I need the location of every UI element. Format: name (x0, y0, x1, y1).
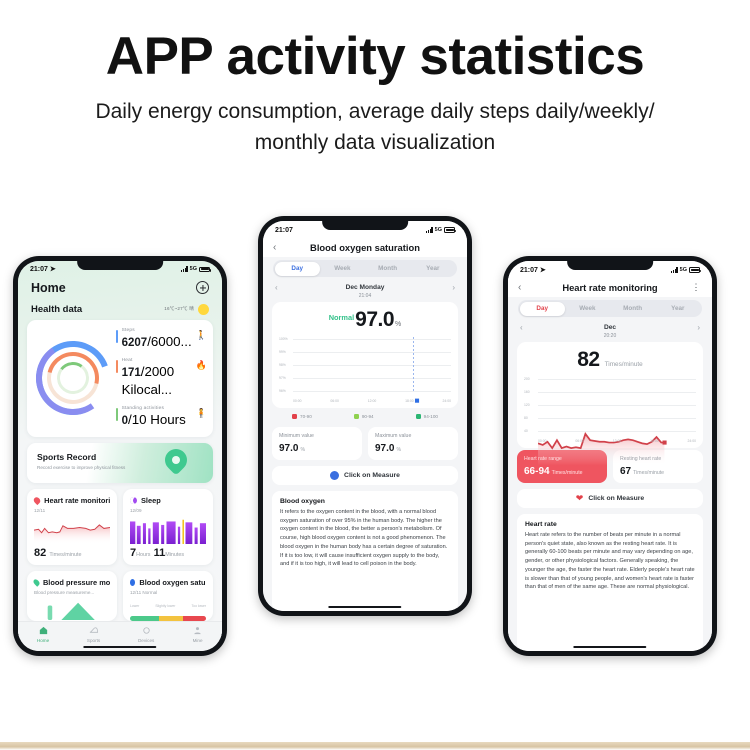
oxygen-icon (330, 471, 339, 480)
metric-steps: Steps 6207/6000... 🚶 (116, 328, 207, 351)
metric-label: Standing activities (122, 406, 192, 411)
metric-label: Steps (122, 328, 192, 333)
home-indicator (573, 646, 646, 649)
next-date-icon[interactable]: › (697, 323, 700, 332)
stat-label: Maximum value (375, 433, 451, 441)
card-heart-rate[interactable]: Heart rate monitoring 12/11 82 Times/min… (27, 489, 117, 565)
tab-label: Devices (138, 638, 154, 643)
network-label: 5G (190, 266, 197, 272)
home-icon (38, 625, 49, 636)
y-tick: 99% (279, 350, 286, 354)
x-tick: 18:00 (405, 399, 414, 403)
network-label: 5G (680, 267, 687, 273)
stat-unit: Times/minute (552, 470, 583, 476)
x-tick: 00:00 (293, 399, 302, 403)
watch-icon (141, 625, 152, 636)
home-indicator (328, 606, 401, 609)
heart-rate-series (538, 377, 696, 465)
measure-button[interactable]: Click on Measure (272, 466, 458, 485)
reading-value: 97.0 (355, 308, 394, 331)
card-sleep[interactable]: Sleep 12/09 (123, 489, 213, 565)
page-subtitle: Daily energy consumption, average daily … (0, 97, 750, 158)
walking-icon: 🚶 (196, 331, 207, 340)
reading: 82Times/minute (524, 348, 696, 372)
heart-rate-plot: 200 160 120 80 40 (524, 377, 696, 443)
sports-record-title: Sports Record (37, 452, 125, 462)
page-title: Blood oxygen saturation (285, 242, 445, 253)
card-date: 12/11 Normal (130, 590, 206, 595)
card-date: 12/09 (130, 508, 206, 513)
y-tick: 200 (524, 377, 530, 381)
network-label: 5G (435, 227, 442, 233)
chart-cursor (662, 377, 663, 433)
y-tick: 80 (524, 416, 528, 420)
health-data-label: Health data (31, 304, 82, 315)
period-tabs[interactable]: Day Week Month Year (273, 260, 457, 277)
date-navigator[interactable]: ‹ Dec › (508, 317, 712, 333)
signal-icon (181, 266, 188, 272)
battery-icon (444, 227, 455, 233)
signal-icon (671, 267, 678, 273)
y-tick: 120 (524, 403, 530, 407)
heart-rate-info: Heart rate Heart rate refers to the numb… (517, 514, 703, 651)
health-metrics-card[interactable]: Steps 6207/6000... 🚶 Heat 171/2000 Kiloc… (27, 320, 213, 437)
tab-mine[interactable]: Mine (192, 625, 203, 643)
y-tick: 97% (279, 376, 286, 380)
card-value: 82 (34, 547, 46, 559)
info-title: Blood oxygen (280, 498, 450, 505)
stat-value: 97.0 (375, 443, 394, 454)
stat-value: 97.0 (279, 443, 298, 454)
bar-tick: Too lower (191, 604, 206, 608)
metric-standing: Standing activities 0/10 Hours 🧍 (116, 406, 207, 429)
bar-tick: Lower (130, 604, 139, 608)
phone-left-home: 21:07 ➤ 5G Home Health data 16℃~27℃ 晴 (13, 256, 227, 656)
signal-icon (426, 227, 433, 233)
y-tick: 98% (279, 363, 286, 367)
card-blood-oxygen[interactable]: Blood oxygen saturation 12/11 Normal Low… (123, 571, 213, 621)
bottom-strip (0, 742, 750, 750)
date-navigator[interactable]: ‹ Dec Monday › (263, 277, 467, 293)
x-tick: 24:00 (443, 399, 452, 403)
x-tick: 12:00 (613, 439, 622, 443)
battery-icon (689, 267, 700, 273)
maximum-value-card: Maximum value 97.0% (368, 427, 458, 460)
x-tick: 18:00 (650, 439, 659, 443)
weather-text: 16℃~27℃ 晴 (164, 306, 194, 312)
home-indicator (83, 646, 156, 649)
x-tick: 12:00 (368, 399, 377, 403)
location-arrow-icon: ➤ (50, 265, 56, 273)
minimum-value-card: Minimum value 97.0% (272, 427, 362, 460)
heart-rate-sparkline (34, 518, 110, 544)
droplet-icon (32, 578, 40, 586)
blood-oxygen-chart-card: Normal97.0% 100% 99% 98% 97% 96% (272, 302, 458, 408)
info-text: Heart rate refers to the number of beats… (525, 531, 695, 592)
page-title: Heart rate monitoring (530, 282, 690, 293)
reading-unit: Times/minute (605, 361, 643, 368)
tab-sports[interactable]: Sports (87, 625, 100, 643)
notch (567, 261, 653, 270)
tab-home[interactable]: Home (37, 625, 49, 643)
tab-day[interactable]: Day (275, 262, 320, 276)
status-time: 21:07 (30, 266, 48, 273)
y-tick: 96% (279, 389, 286, 393)
stat-label: Minimum value (279, 433, 355, 441)
activity-rings (36, 341, 110, 415)
tab-year[interactable]: Year (410, 262, 455, 276)
current-date: Dec Monday (278, 284, 453, 291)
card-blood-pressure[interactable]: Blood pressure monitoring Blood pressure… (27, 571, 117, 621)
notch (77, 261, 163, 270)
info-title: Heart rate (525, 521, 695, 528)
heart-icon (32, 495, 41, 504)
person-icon (192, 625, 203, 636)
blood-pressure-graphic (34, 600, 110, 620)
tab-label: Sports (87, 638, 100, 643)
card-title: Sleep (141, 496, 161, 505)
phone-mid-blood-oxygen: 21:07 5G ‹ Blood oxygen saturation Day W… (258, 216, 472, 616)
card-unit: Times/minute (49, 552, 81, 558)
reading-unit: % (395, 321, 401, 328)
sports-record-subtitle: Record exercise to improve physical fitn… (37, 465, 125, 470)
y-tick: 40 (524, 429, 528, 433)
card-title: Heart rate monitoring (44, 496, 110, 505)
x-tick: 24:00 (688, 439, 697, 443)
page-header: APP activity statistics Daily energy con… (0, 28, 750, 158)
stat-value: 67 (620, 466, 631, 477)
x-tick: 00:00 (538, 439, 547, 443)
metric-value: 6207 (122, 337, 148, 349)
blood-oxygen-info: Blood oxygen It refers to the oxygen con… (272, 491, 458, 611)
tab-label: Mine (193, 638, 203, 643)
map-pin-icon (160, 444, 191, 475)
y-tick: 160 (524, 390, 530, 394)
reading-value: 82 (577, 348, 599, 371)
sun-icon (198, 304, 209, 315)
y-tick: 100% (279, 337, 288, 341)
card-title: Blood oxygen saturation (139, 578, 206, 587)
kebab-menu-icon[interactable]: ⋮ (690, 284, 702, 290)
card-title: Blood pressure monitoring (43, 578, 110, 587)
measure-label: Click on Measure (344, 472, 400, 479)
stat-unit: Times/minute (633, 470, 664, 476)
tab-label: Home (37, 638, 49, 643)
reading-time: 20:20 (508, 333, 712, 342)
battery-icon (199, 267, 210, 273)
tab-year[interactable]: Year (655, 302, 700, 316)
tab-month[interactable]: Month (610, 302, 655, 316)
card-unit: Hours (136, 552, 150, 558)
card-unit-2: Minutes (165, 552, 184, 558)
sports-record-card[interactable]: Sports Record Record exercise to improve… (27, 443, 213, 483)
status-time: 21:07 (275, 227, 293, 234)
data-points (293, 337, 451, 425)
flame-icon: 🔥 (196, 361, 207, 370)
heart-icon: ❤ (576, 494, 584, 503)
metric-value: 171 (122, 367, 141, 379)
reading-tag: Normal (329, 313, 354, 322)
oxygen-icon (130, 579, 135, 586)
back-icon[interactable]: ‹ (518, 282, 530, 293)
status-time: 21:07 (520, 267, 538, 274)
tab-day[interactable]: Day (520, 302, 565, 316)
tab-week[interactable]: Week (320, 262, 365, 276)
period-tabs[interactable]: Day Week Month Year (518, 300, 702, 317)
heart-rate-chart-card: 82Times/minute 200 160 120 80 40 (517, 342, 703, 448)
tab-month[interactable]: Month (365, 262, 410, 276)
tab-week[interactable]: Week (565, 302, 610, 316)
reading-time: 21:04 (263, 293, 467, 302)
measure-label: Click on Measure (588, 495, 644, 502)
metric-suffix: /6000... (147, 334, 191, 349)
phone-right-heart-rate: 21:07 ➤ 5G ‹ Heart rate monitoring ⋮ Day… (503, 256, 717, 656)
card-date: Blood pressure measureme... (34, 590, 110, 595)
moon-icon (130, 497, 137, 504)
back-icon[interactable]: ‹ (273, 242, 285, 253)
measure-button[interactable]: ❤ Click on Measure (517, 489, 703, 508)
shoe-icon (88, 625, 99, 636)
card-date: 12/11 (34, 508, 110, 513)
bar-tick: Slightly lower (155, 604, 175, 608)
notch (322, 221, 408, 230)
current-date: Dec (523, 324, 698, 331)
next-date-icon[interactable]: › (452, 283, 455, 292)
page-title: APP activity statistics (0, 28, 750, 85)
metric-suffix: /10 Hours (128, 412, 186, 427)
x-axis: 00:00 06:00 12:00 18:00 24:00 (293, 399, 451, 403)
stat-unit: % (300, 447, 305, 453)
stat-unit: % (396, 447, 401, 453)
tab-devices[interactable]: Devices (138, 625, 154, 643)
x-tick: 06:00 (575, 439, 584, 443)
metric-label: Heat (122, 358, 192, 363)
location-arrow-icon: ➤ (540, 266, 546, 274)
add-circle-icon[interactable] (196, 281, 209, 294)
blood-oxygen-plot: 100% 99% 98% 97% 96% 00:00 06:00 1 (279, 337, 451, 403)
x-tick: 06:00 (330, 399, 339, 403)
stat-value: 66-94 (524, 466, 550, 477)
sleep-bars (130, 518, 206, 544)
standing-icon: 🧍 (196, 409, 207, 418)
x-axis: 00:00 06:00 12:00 18:00 24:00 (538, 439, 696, 443)
info-text: It refers to the oxygen content in the b… (280, 508, 450, 569)
home-nav-title: Home (31, 281, 66, 295)
card-value-2: 11 (154, 547, 166, 559)
reading: Normal97.0% (279, 308, 451, 332)
metric-heat: Heat 171/2000 Kilocal... 🔥 (116, 358, 207, 399)
